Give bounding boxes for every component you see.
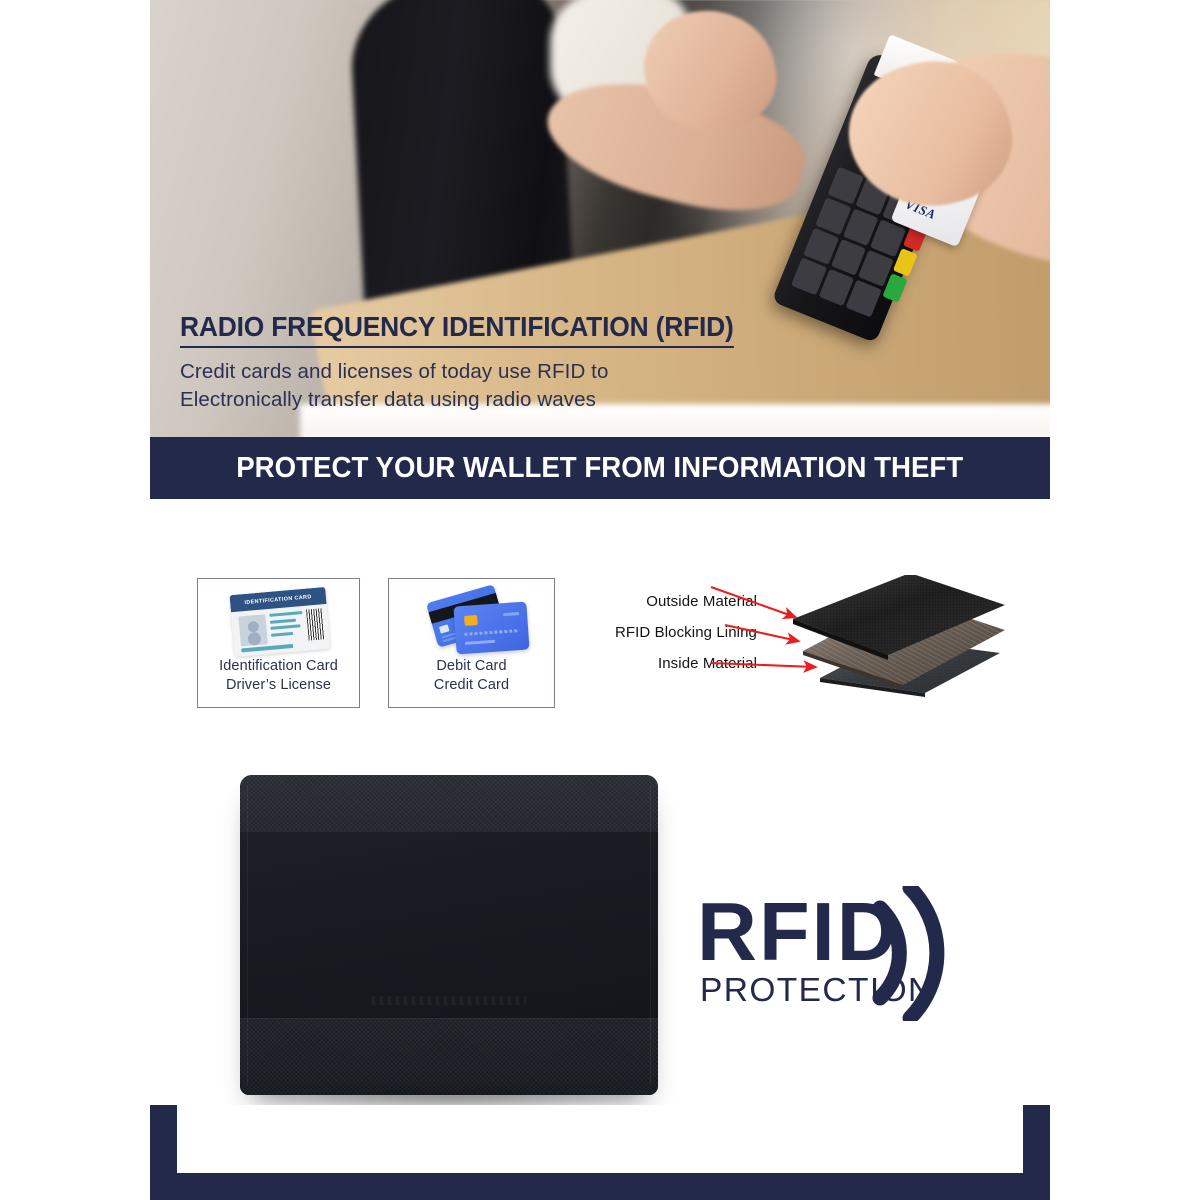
wallet-embossed-logo — [372, 996, 527, 1005]
feature-label-line-1: Identification Card — [198, 657, 359, 676]
bank-cards-icon — [389, 585, 554, 657]
banner-text: PROTECT YOUR WALLET FROM INFORMATION THE… — [237, 452, 964, 485]
material-layers-diagram: Outside Material RFID Blocking Lining In… — [585, 575, 1005, 700]
frame-bottom-bar — [150, 1173, 1050, 1200]
feature-label-line-1: Debit Card — [389, 657, 554, 676]
headline-block: RADIO FREQUENCY IDENTIFICATION (RFID) Cr… — [180, 312, 880, 414]
wallet-seam-left — [247, 785, 248, 1085]
id-card-field-lines — [269, 611, 304, 640]
card-brand-mark — [503, 612, 519, 616]
chip-icon — [464, 615, 478, 626]
subtitle-line-1: Credit cards and licenses of today use R… — [180, 358, 880, 386]
feature-card-identification: IDENTIFICATION CARD Identification Card … — [197, 578, 360, 708]
subtitle-line-2: Electronically transfer data using radio… — [180, 386, 880, 414]
wallet-body — [240, 775, 658, 1095]
arrow-to-outside — [711, 587, 795, 617]
wallet-seam-right — [650, 785, 651, 1085]
id-card-portrait — [238, 614, 268, 646]
identification-card-icon: IDENTIFICATION CARD — [198, 585, 359, 657]
wallet-product-photo — [240, 775, 658, 1095]
feature-label-identification: Identification Card Driver’s License — [198, 657, 359, 695]
bank-cards-graphic — [429, 589, 529, 655]
card-front-graphic — [453, 602, 529, 655]
wallet-top-panel — [240, 775, 658, 831]
headline-banner: PROTECT YOUR WALLET FROM INFORMATION THE… — [150, 437, 1050, 499]
frame-inner-white — [177, 1105, 1023, 1173]
card-name-line — [465, 640, 495, 645]
page-subtitle: Credit cards and licenses of today use R… — [180, 358, 880, 415]
feature-label-line-2: Credit Card — [389, 676, 554, 695]
wallet-mid-panel — [240, 831, 658, 1019]
infographic-page: VISA RADIO FREQUENCY IDENTIFICATION (RFI… — [0, 0, 1200, 1200]
page-title: RADIO FREQUENCY IDENTIFICATION (RFID) — [180, 312, 734, 348]
signal-waves-icon — [872, 886, 982, 1021]
feature-label-line-2: Driver’s License — [198, 676, 359, 695]
layers-svg — [585, 575, 1005, 700]
rfid-protection-logo: RFID PROTECTION — [697, 888, 977, 1023]
arrow-to-inside — [711, 663, 815, 667]
feature-card-bankcards: Debit Card Credit Card — [388, 578, 555, 708]
bottom-navy-frame — [150, 1105, 1050, 1200]
rfid-logo-wordmark: RFID — [697, 890, 899, 973]
feature-label-bankcards: Debit Card Credit Card — [389, 657, 554, 695]
id-card-graphic: IDENTIFICATION CARD — [229, 587, 330, 657]
arrow-to-lining — [725, 625, 798, 641]
card-number-line — [464, 629, 519, 636]
signature-panel — [439, 624, 450, 633]
barcode-icon — [306, 608, 325, 640]
wallet-bottom-panel — [240, 1019, 658, 1095]
